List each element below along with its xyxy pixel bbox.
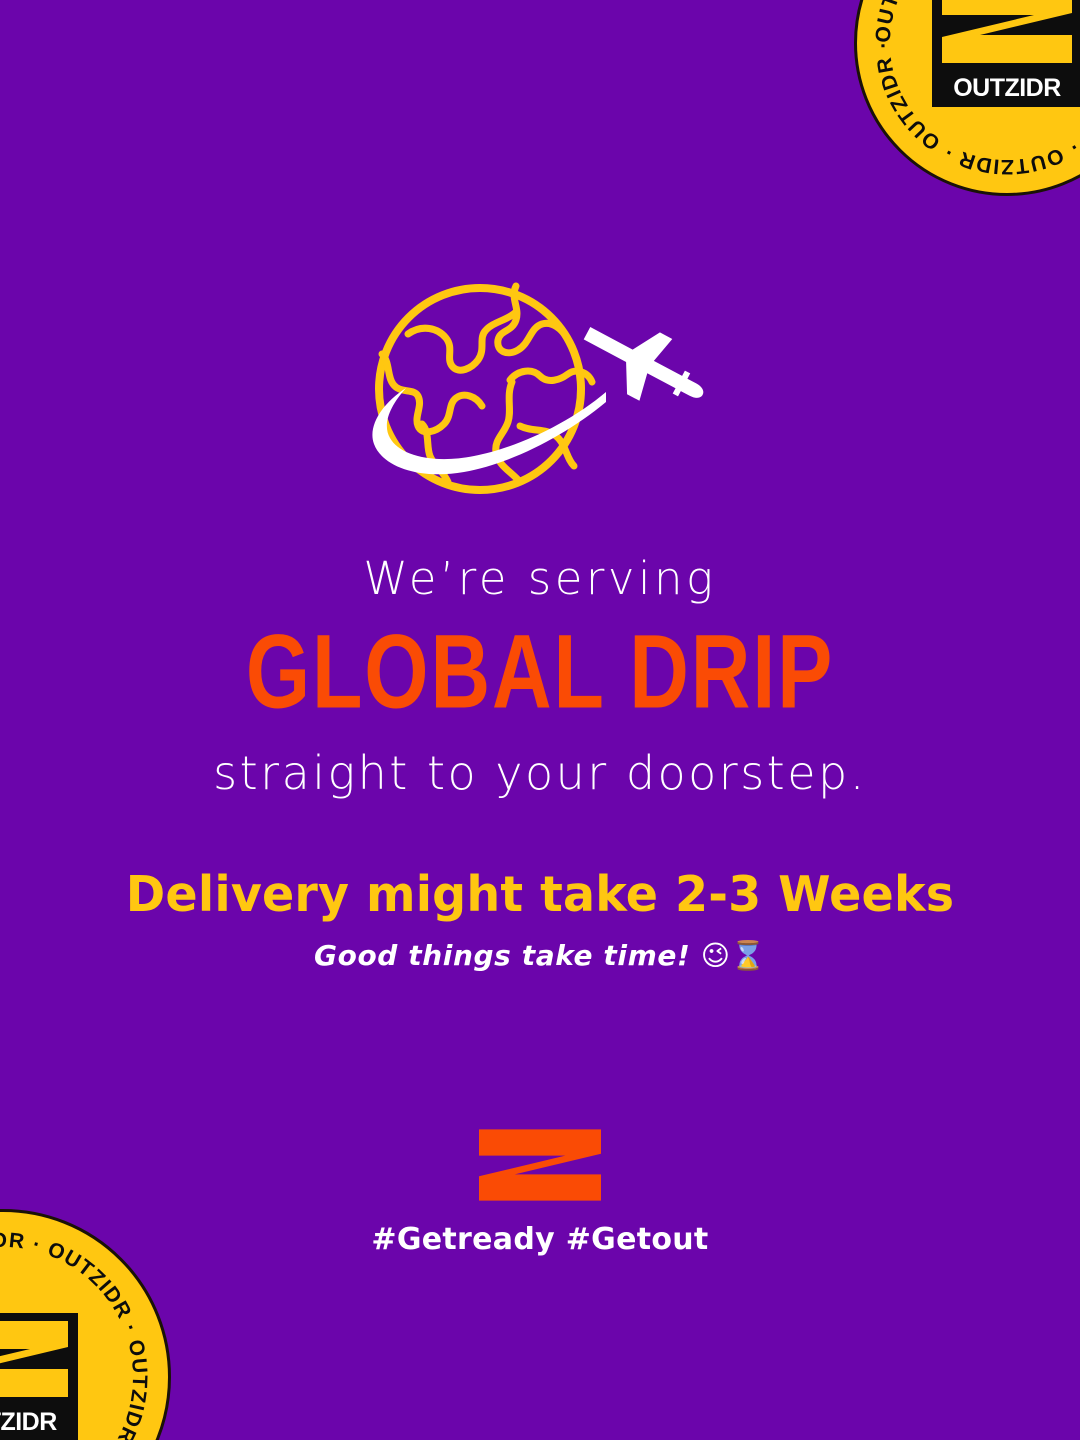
copy-block: We’re serving GLOBAL DRIP straight to yo… [0,552,1080,972]
wink-hourglass-emoji: 😉⌛ [701,939,766,972]
seal-z-box [0,1313,78,1405]
outzidr-seal-top-right: OUTZIDR · OUTZIDR · OUTZIDR · OUTZIDR · … [854,0,1080,196]
hashtags: #Getready #Getout [0,1222,1080,1257]
headline: GLOBAL DRIP [22,615,1059,730]
footer-block: #Getready #Getout [0,1120,1080,1257]
serving-line: We’re serving [0,552,1080,605]
z-logo [479,1120,601,1210]
globe-airplane-icon [360,276,720,506]
poster-canvas: OUTZIDR · OUTZIDR · OUTZIDR · OUTZIDR · … [0,0,1080,1440]
delivery-estimate: Delivery might take 2-3 Weeks [16,866,1064,923]
doorstep-line: straight to your doorstep. [0,746,1080,800]
z-logo-icon [0,1321,68,1397]
good-things-text: Good things take time! [314,939,690,972]
hero-illustration [0,276,1080,506]
seal-core-bottom-left: OUTZIDR [0,1313,78,1440]
seal-wordmark: OUTZIDR [953,74,1061,103]
seal-core-top-right: OUTZIDR [932,0,1080,107]
seal-wordmark-box: OUTZIDR [932,69,1080,107]
z-logo-icon [942,0,1072,63]
seal-wordmark-box: OUTZIDR [0,1403,78,1440]
seal-wordmark: OUTZIDR [0,1408,57,1437]
seal-z-box [932,0,1080,71]
good-things-note: Good things take time! 😉⌛ [0,939,1080,972]
